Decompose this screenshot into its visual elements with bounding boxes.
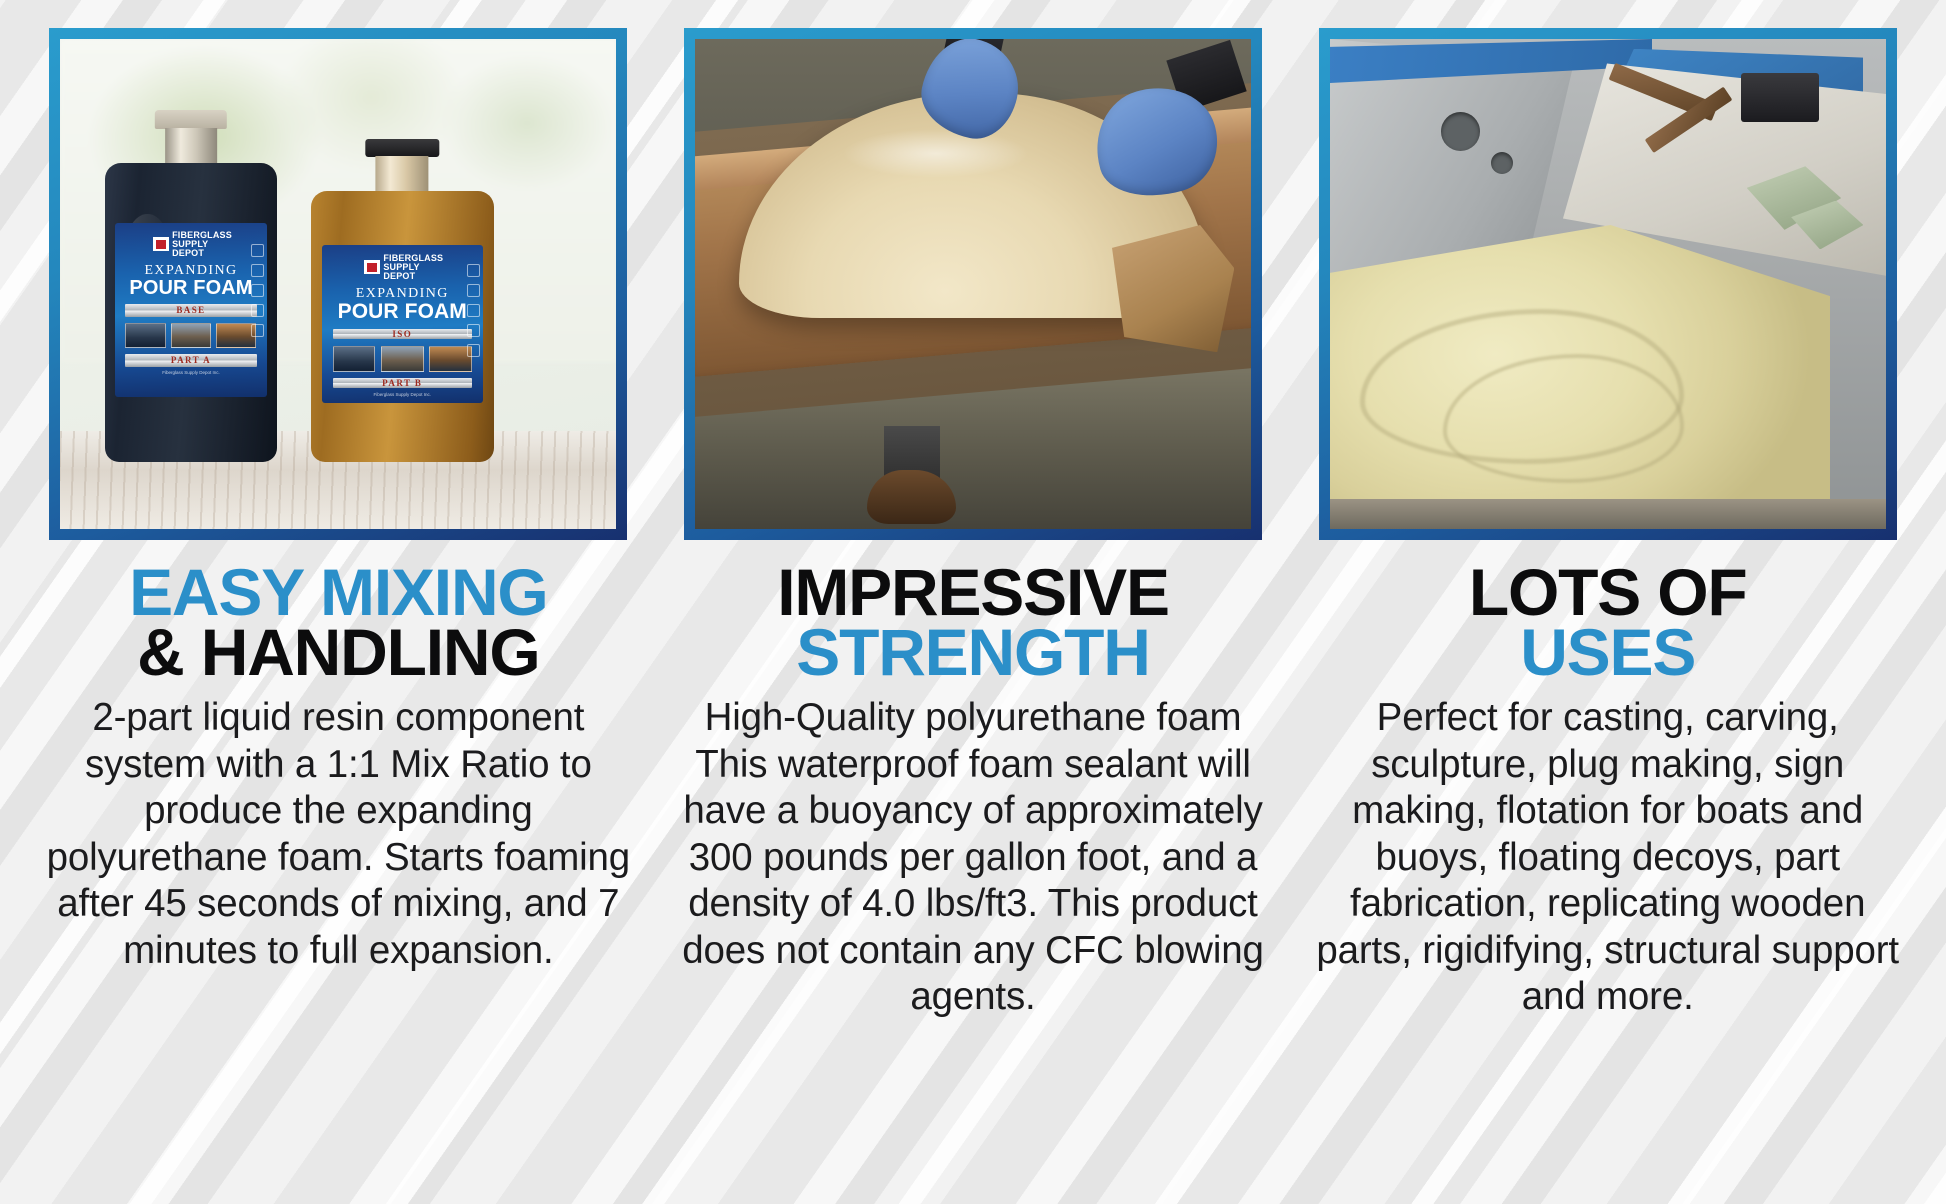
label-fineprint: Fiberglass Supply Depot Inc.	[373, 392, 431, 398]
goggles-icon	[251, 324, 264, 337]
label-application-thumbnails	[333, 346, 472, 373]
gloves-icon	[251, 284, 264, 297]
thumbnail-dock	[429, 346, 472, 373]
label-pour-foam-text: POUR FOAM	[338, 301, 467, 323]
fiberglass-supply-depot-logo-icon	[364, 260, 380, 274]
jug-cap-icon	[155, 110, 227, 129]
label-application-thumbnails	[125, 323, 256, 348]
jug-body-amber-resin: FIBERGLASS SUPPLY DEPOT EXPANDING POUR F…	[311, 191, 494, 462]
photo-frame-easy-mixing: FIBERGLASS SUPPLY DEPOT EXPANDING POUR F…	[49, 28, 627, 540]
jug-cap-black-icon	[366, 139, 439, 157]
headline-line-2: STRENGTH	[777, 622, 1169, 683]
brand-name: FIBERGLASS SUPPLY DEPOT	[172, 231, 232, 257]
power-tool	[1741, 73, 1819, 122]
jug-part-b: FIBERGLASS SUPPLY DEPOT EXPANDING POUR F…	[311, 139, 494, 462]
label-expanding-text: EXPANDING	[356, 287, 449, 301]
feature-column-lots-of-uses: LOTS OF USES Perfect for casting, carvin…	[1303, 28, 1912, 1021]
warning-icon	[251, 244, 264, 257]
headline-impressive-strength: IMPRESSIVE STRENGTH	[777, 562, 1169, 683]
thumbnail-boat	[125, 323, 165, 348]
respirator-icon	[251, 304, 264, 317]
thumbnail-rv	[171, 323, 211, 348]
product-label-part-a: FIBERGLASS SUPPLY DEPOT EXPANDING POUR F…	[115, 223, 267, 397]
hull-port-hole	[1441, 112, 1480, 151]
recycle-icon	[467, 284, 480, 297]
brand-lockup: FIBERGLASS SUPPLY DEPOT	[153, 231, 229, 257]
brand-lockup: FIBERGLASS SUPPLY DEPOT	[364, 254, 440, 280]
label-variant-bar: BASE	[125, 304, 256, 317]
product-photo-two-jugs: FIBERGLASS SUPPLY DEPOT EXPANDING POUR F…	[60, 39, 616, 529]
gloves-icon	[467, 304, 480, 317]
label-expanding-text: EXPANDING	[144, 264, 237, 278]
label-part-bar: PART B	[333, 378, 472, 388]
poured-expanded-foam	[1330, 225, 1830, 529]
brand-name: FIBERGLASS SUPPLY DEPOT	[383, 254, 443, 280]
feature-columns-container: FIBERGLASS SUPPLY DEPOT EXPANDING POUR F…	[0, 0, 1946, 1204]
headline-line-1: LOTS OF	[1469, 562, 1747, 623]
headline-line-1: EASY MIXING	[129, 562, 547, 623]
warning-icon	[467, 264, 480, 277]
headline-line-2: & HANDLING	[129, 622, 547, 683]
label-part-bar: PART A	[125, 354, 256, 367]
feature-column-easy-mixing: FIBERGLASS SUPPLY DEPOT EXPANDING POUR F…	[34, 28, 643, 974]
respirator-icon	[467, 324, 480, 337]
label-variant-bar: ISO	[333, 329, 472, 339]
label-pour-foam-text: POUR FOAM	[129, 278, 252, 299]
fiberglass-supply-depot-logo-icon	[153, 237, 169, 251]
jug-part-a: FIBERGLASS SUPPLY DEPOT EXPANDING POUR F…	[105, 110, 277, 462]
label-fineprint: Fiberglass Supply Depot Inc.	[162, 370, 220, 376]
jug-body-dark-resin: FIBERGLASS SUPPLY DEPOT EXPANDING POUR F…	[105, 163, 277, 463]
recycle-icon	[251, 264, 264, 277]
headline-easy-mixing: EASY MIXING & HANDLING	[129, 562, 547, 683]
body-copy-impressive-strength: High-Quality polyurethane foam This wate…	[669, 695, 1278, 1021]
thumbnail-rv	[381, 346, 424, 373]
product-label-part-b: FIBERGLASS SUPPLY DEPOT EXPANDING POUR F…	[322, 245, 483, 402]
foam-loaf-scene	[695, 39, 1251, 529]
label-hazard-icons	[251, 244, 264, 337]
hull-port-hole-small	[1491, 152, 1513, 174]
hull-bottom-edge	[1330, 499, 1886, 528]
jugs-scene: FIBERGLASS SUPPLY DEPOT EXPANDING POUR F…	[60, 39, 616, 529]
product-photo-boat-hull-foam	[1330, 39, 1886, 529]
product-photo-foam-loaf	[695, 39, 1251, 529]
photo-frame-lots-of-uses	[1319, 28, 1897, 540]
label-hazard-icons	[467, 264, 480, 357]
body-copy-lots-of-uses: Perfect for casting, carving, sculpture,…	[1303, 695, 1912, 1021]
foam-highlight	[842, 129, 1029, 179]
feature-column-impressive-strength: IMPRESSIVE STRENGTH High-Quality polyure…	[669, 28, 1278, 1021]
boat-hull-scene	[1330, 39, 1886, 529]
goggles-icon	[467, 344, 480, 357]
headline-lots-of-uses: LOTS OF USES	[1469, 562, 1747, 683]
headline-line-2: USES	[1469, 622, 1747, 683]
headline-line-1: IMPRESSIVE	[777, 562, 1169, 623]
body-copy-easy-mixing: 2-part liquid resin component system wit…	[34, 695, 643, 974]
photo-frame-impressive-strength	[684, 28, 1262, 540]
thumbnail-boat	[333, 346, 376, 373]
